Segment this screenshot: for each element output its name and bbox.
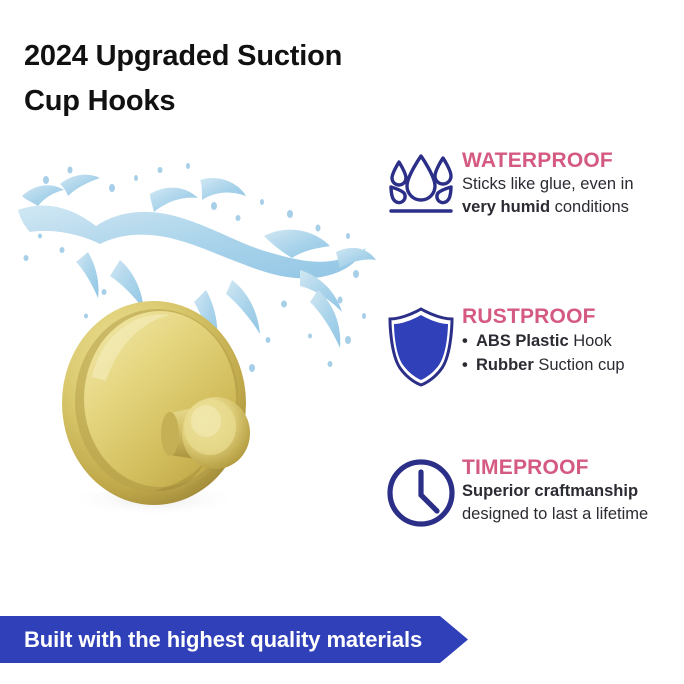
feature-line: Superior craftmanship — [462, 480, 684, 503]
feature-line: very humid conditions — [462, 196, 684, 219]
banner-text: Built with the highest quality materials — [24, 616, 422, 663]
feature-text-rustproof: RUSTPROOF •ABS Plastic Hook •Rubber Suct… — [460, 304, 684, 377]
feature-bullet-item: •ABS Plastic Hook — [462, 329, 684, 353]
bullet-dot-icon: • — [462, 353, 476, 377]
feature-title-timeproof: TIMEPROOF — [462, 455, 684, 480]
feature-line-text: Superior craftmanship — [462, 482, 638, 500]
feature-title-waterproof: WATERPROOF — [462, 148, 684, 173]
feature-line-text: designed to last a lifetime — [462, 505, 648, 523]
feature-text-timeproof: TIMEPROOF Superior craftmanship designed… — [460, 455, 684, 526]
feature-line: designed to last a lifetime — [462, 503, 684, 526]
feature-line: Sticks like glue, even in — [462, 173, 684, 196]
bullet-dot-icon: • — [462, 329, 476, 353]
feature-line-bold: very humid — [462, 198, 550, 216]
product-hero — [0, 140, 380, 560]
feature-line-text: Sticks like glue, even in — [462, 175, 634, 193]
feature-text-waterproof: WATERPROOF Sticks like glue, even in ver… — [460, 148, 684, 219]
page-title-line-1: 2024 Upgraded Suction — [24, 34, 404, 79]
page-title: 2024 Upgraded Suction Cup Hooks — [24, 34, 404, 124]
feature-bullet-text: Suction cup — [534, 356, 625, 374]
bottom-banner: Built with the highest quality materials — [0, 616, 470, 663]
feature-title-rustproof: RUSTPROOF — [462, 304, 684, 329]
feature-block-rustproof: RUSTPROOF •ABS Plastic Hook •Rubber Suct… — [382, 304, 684, 388]
feature-block-timeproof: TIMEPROOF Superior craftmanship designed… — [382, 455, 684, 529]
feature-bullet-bold: ABS Plastic — [476, 332, 569, 350]
page-title-line-2: Cup Hooks — [24, 79, 404, 124]
clock-icon — [382, 455, 460, 529]
feature-bullet-item: •Rubber Suction cup — [462, 353, 684, 377]
shield-icon — [382, 304, 460, 388]
water-drops-icon — [382, 148, 460, 216]
feature-block-waterproof: WATERPROOF Sticks like glue, even in ver… — [382, 148, 684, 219]
feature-bullet-text: Hook — [569, 332, 612, 350]
feature-bullet-bold: Rubber — [476, 356, 534, 374]
feature-line-text: conditions — [550, 198, 629, 216]
product-image-suction-hook — [58, 285, 268, 525]
